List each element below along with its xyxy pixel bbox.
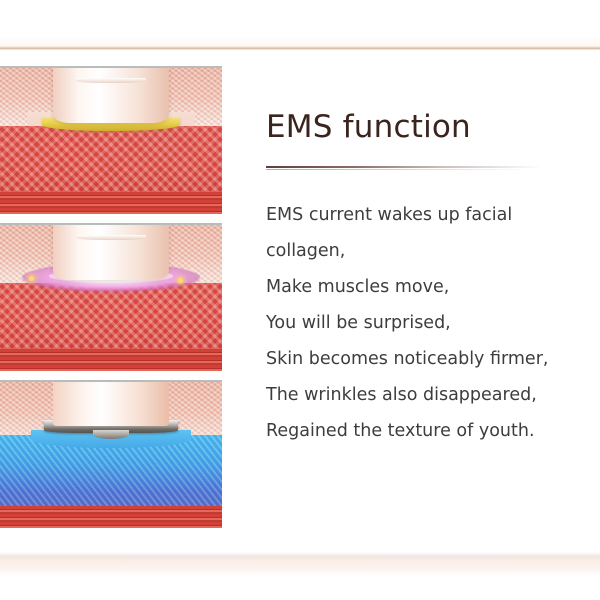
figure-column <box>0 66 222 537</box>
muscle-layer <box>0 506 222 528</box>
list-item: Make muscles move, <box>266 269 586 305</box>
device-head-icon <box>53 66 168 123</box>
muscle-layer <box>0 349 222 371</box>
benefit-list: EMS current wakes up facial collagen, Ma… <box>266 197 586 449</box>
figure-skin-cross-section-ems-glow <box>0 223 222 371</box>
list-item: Regained the texture of youth. <box>266 413 586 449</box>
top-decorative-band <box>0 46 600 50</box>
figure-skin-cross-section-cooling <box>0 380 222 528</box>
metal-plate-tab <box>93 430 129 439</box>
list-item: Skin becomes noticeably firmer, <box>266 341 586 377</box>
energy-spark-icon <box>178 278 183 283</box>
bottom-decorative-band <box>0 552 600 576</box>
divider-line-secondary <box>266 169 566 170</box>
device-head-rim <box>76 78 145 83</box>
list-item: collagen, <box>266 233 586 269</box>
device-head-rim <box>76 235 145 240</box>
infographic-page: EMS function EMS current wakes up facial… <box>0 0 600 600</box>
title-divider <box>266 166 566 171</box>
device-head-icon <box>53 380 168 426</box>
page-title: EMS function <box>266 110 586 144</box>
text-column: EMS function EMS current wakes up facial… <box>266 110 586 449</box>
list-item: EMS current wakes up facial <box>266 197 586 233</box>
list-item: You will be surprised, <box>266 305 586 341</box>
figure-skin-cross-section-serum <box>0 66 222 214</box>
dermis-layer <box>0 126 222 193</box>
list-item: The wrinkles also disappeared, <box>266 377 586 413</box>
device-head-icon <box>53 223 168 280</box>
muscle-layer <box>0 192 222 214</box>
dermis-layer <box>0 283 222 350</box>
energy-spark-icon <box>29 276 34 281</box>
divider-line-primary <box>266 166 566 168</box>
